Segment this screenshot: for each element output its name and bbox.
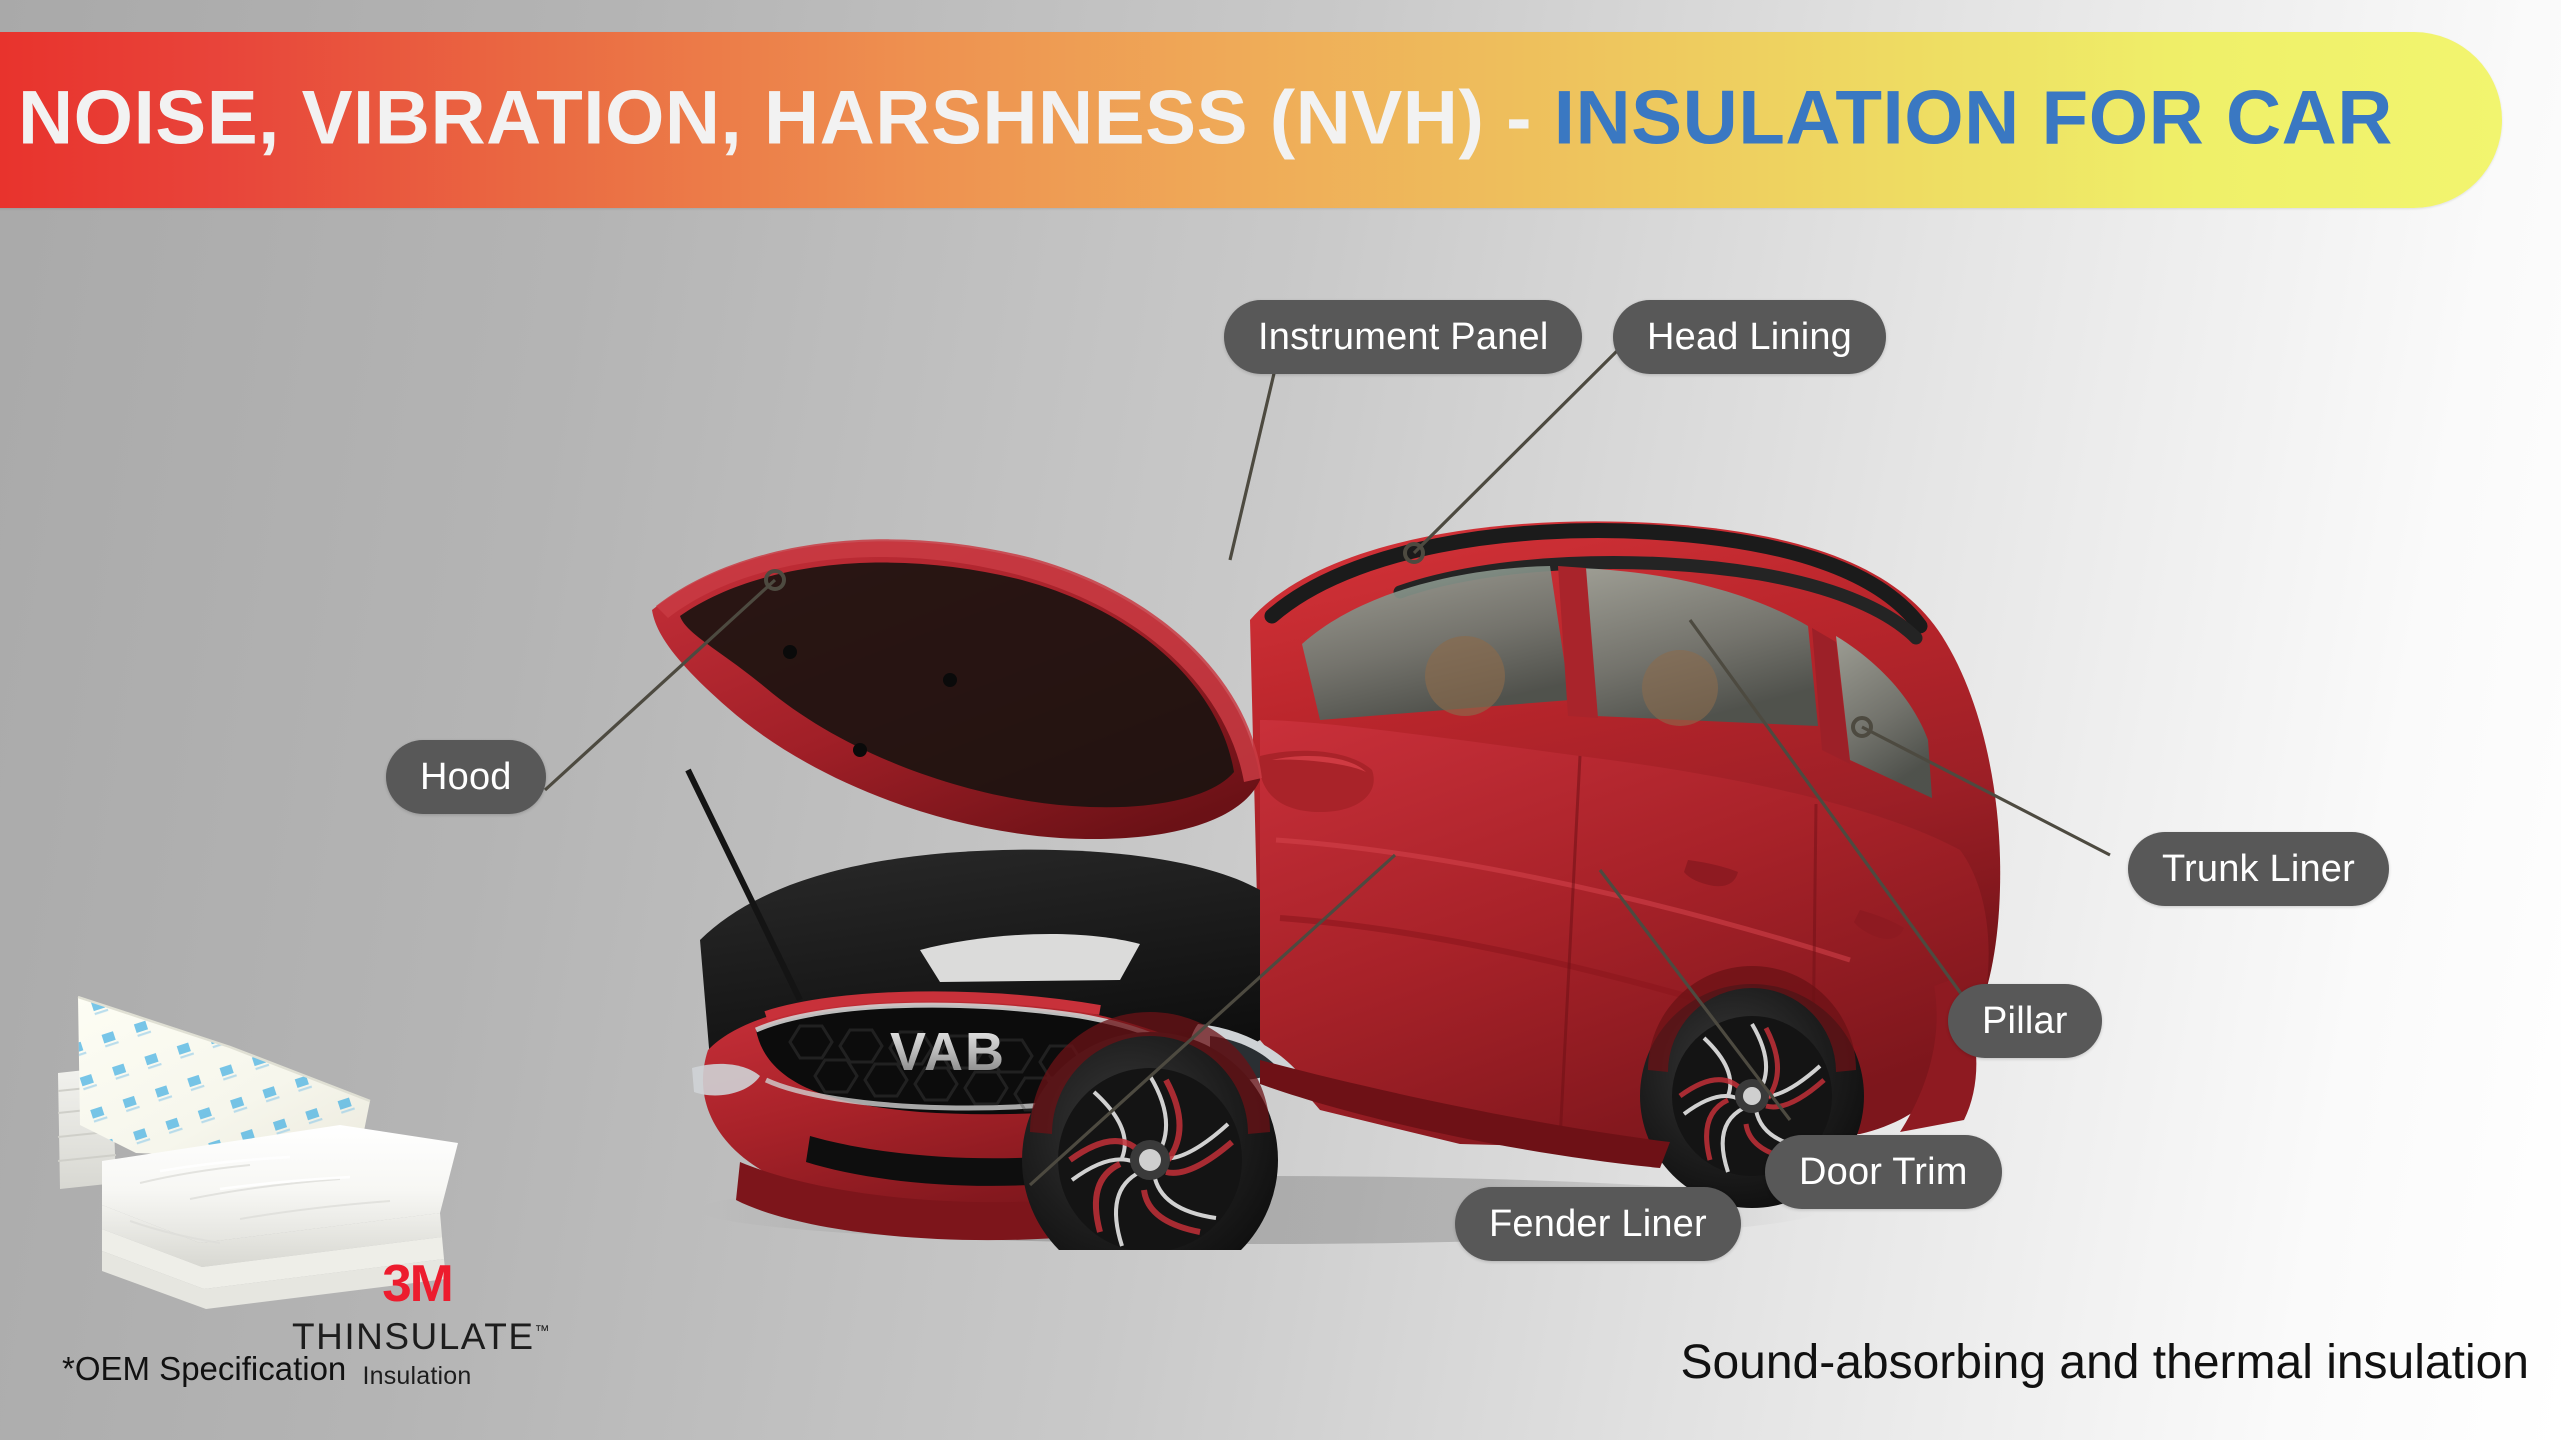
callout-door-trim[interactable]: Door Trim (1765, 1135, 2002, 1209)
grille-badge: VAB (890, 1022, 1006, 1082)
tagline: Sound-absorbing and thermal insulation (1680, 1335, 2529, 1390)
callout-instrument-panel[interactable]: Instrument Panel (1224, 300, 1582, 374)
logo-3m-wordmark: 3M (290, 1258, 545, 1310)
callout-pillar[interactable]: Pillar (1948, 984, 2102, 1058)
title-banner: NOISE, VIBRATION, HARSHNESS (NVH) - INSU… (0, 32, 2502, 208)
callout-head-lining[interactable]: Head Lining (1613, 300, 1886, 374)
logo-thinsulate-wordmark: THINSULATE™ (292, 1318, 542, 1355)
page-title-primary: NOISE, VIBRATION, HARSHNESS (NVH) - (18, 75, 1554, 160)
logo-thinsulate-text: THINSULATE (292, 1316, 535, 1357)
page-title: NOISE, VIBRATION, HARSHNESS (NVH) - INSU… (18, 80, 2466, 156)
page-title-accent: INSULATION FOR CAR (1554, 75, 2393, 160)
callout-hood[interactable]: Hood (386, 740, 546, 814)
thinsulate-logo: 3M THINSULATE™ Insulation (292, 1258, 542, 1389)
logo-subtitle: Insulation (292, 1364, 542, 1389)
callout-trunk-liner[interactable]: Trunk Liner (2128, 832, 2389, 906)
callout-fender-liner[interactable]: Fender Liner (1455, 1187, 1741, 1261)
trademark-symbol: ™ (535, 1323, 550, 1340)
vehicle-illustration: VAB (560, 420, 2060, 1250)
slide-canvas: NOISE, VIBRATION, HARSHNESS (NVH) - INSU… (0, 0, 2561, 1440)
